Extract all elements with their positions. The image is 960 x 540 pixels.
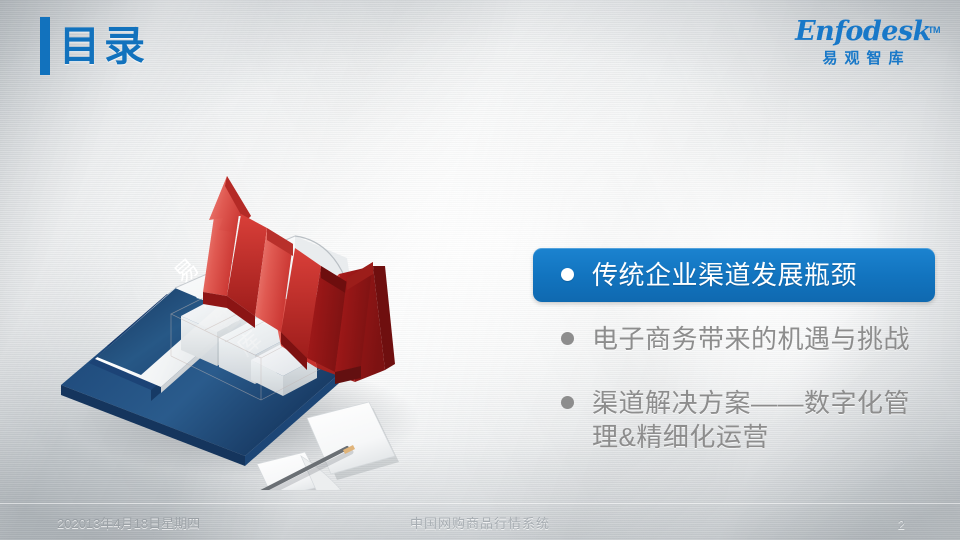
logo-chinese-name: 易观智库 [788,47,938,68]
title-accent-bar [40,17,50,75]
trademark-icon: TM [928,16,940,44]
bullet-icon [561,396,574,409]
toc-list: 传统企业渠道发展瓶颈 电子商务带来的机遇与挑战 渠道解决方案——数字化管理&精细… [533,248,938,474]
footer-title: 中国网购商品行情系统 [0,513,960,532]
toc-item-2-label: 电子商务带来的机遇与挑战 [592,322,910,356]
brand-logo: Enfodesk TM 易观智库 [788,18,938,68]
toc-item-3-label: 渠道解决方案——数字化管理&精细化运营 [592,386,930,454]
page-number: 2 [898,517,905,532]
logo-wordmark-text: Enfodesk [795,16,931,47]
footer-divider [0,503,960,504]
bullet-icon [561,268,574,281]
toc-item-1-label: 传统企业渠道发展瓶颈 [592,258,857,292]
slide: 目录 Enfodesk TM 易观智库 [0,0,960,540]
page-title: 目录 [59,19,149,73]
toc-item-3[interactable]: 渠道解决方案——数字化管理&精细化运营 [533,376,938,464]
toc-item-2[interactable]: 电子商务带来的机遇与挑战 [533,312,938,366]
logo-wordmark: Enfodesk TM [788,18,938,46]
bullet-icon [561,332,574,345]
book-chart-illustration: 易 观 智 库 [55,170,455,490]
toc-item-1[interactable]: 传统企业渠道发展瓶颈 [533,248,935,302]
